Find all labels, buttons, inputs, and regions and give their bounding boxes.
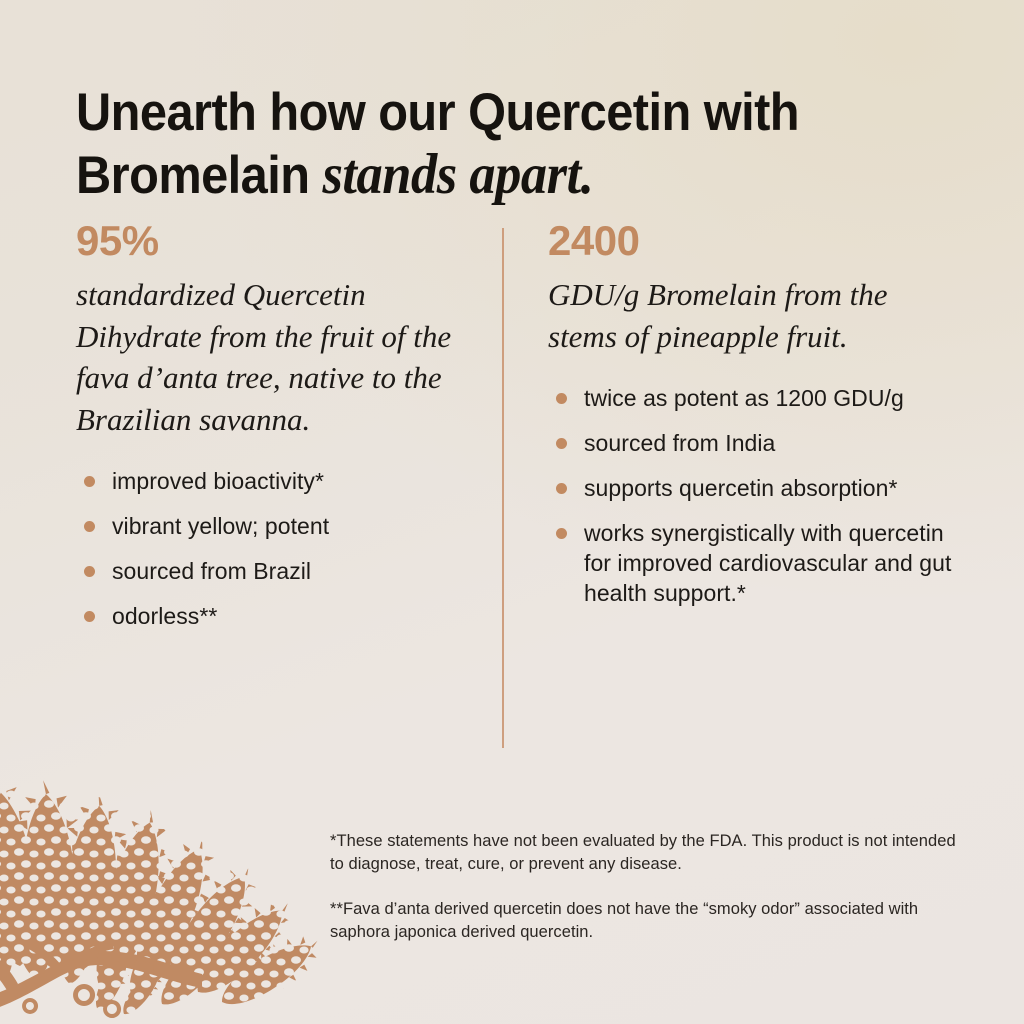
stat-number-bromelain: 2400: [548, 218, 964, 264]
fava-danta-branch-illustration: [0, 712, 326, 1024]
bud-details: [22, 984, 121, 1018]
list-item: sourced from Brazil: [76, 556, 476, 586]
column-divider: [502, 228, 504, 748]
footnotes: *These statements have not been evaluate…: [330, 830, 970, 944]
headline-line-1: Unearth how our Quercetin with: [76, 83, 799, 142]
bullet-list-quercetin: improved bioactivity* vibrant yellow; po…: [76, 466, 476, 631]
column-bromelain: 2400 GDU/g Bromelain from the stems of p…: [548, 218, 964, 623]
product-comparison-panel: Unearth how our Quercetin with Bromelain…: [0, 0, 1024, 1024]
branch-group: [0, 768, 326, 1024]
headline-line-2-plain: Bromelain: [76, 146, 322, 205]
bullet-list-bromelain: twice as potent as 1200 GDU/g sourced fr…: [548, 383, 964, 608]
list-item: twice as potent as 1200 GDU/g: [548, 383, 964, 413]
stat-description-quercetin: standardized Quercetin Dihydrate from th…: [76, 274, 476, 440]
list-item: vibrant yellow; potent: [76, 511, 476, 541]
column-quercetin: 95% standardized Quercetin Dihydrate fro…: [76, 218, 476, 646]
footnote-fda-disclaimer: *These statements have not been evaluate…: [330, 830, 970, 876]
stat-number-quercetin: 95%: [76, 218, 476, 264]
list-item: sourced from India: [548, 428, 964, 458]
list-item: supports quercetin absorption*: [548, 473, 964, 503]
page-title: Unearth how our Quercetin with Bromelain…: [76, 82, 886, 207]
list-item: odorless**: [76, 601, 476, 631]
branch-stem: [0, 942, 202, 1024]
stat-description-bromelain: GDU/g Bromelain from the stems of pineap…: [548, 274, 964, 357]
list-item: improved bioactivity*: [76, 466, 476, 496]
headline-line-2-emphasis: stands apart.: [322, 143, 593, 206]
footnote-odor-note: **Fava d’anta derived quercetin does not…: [330, 898, 970, 944]
cone-cluster: [0, 768, 326, 1021]
list-item: works synergistically with quercetin for…: [548, 518, 964, 608]
